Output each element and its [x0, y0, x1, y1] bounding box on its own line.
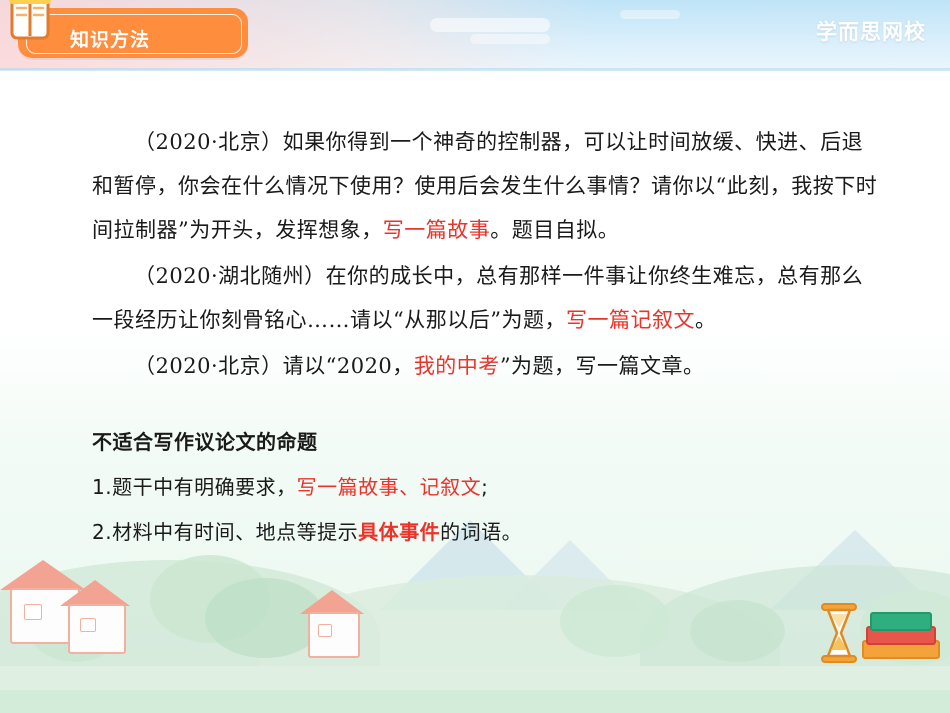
- paragraph-3: （2020·北京）请以“2020，我的中考”为题，写一篇文章。: [92, 344, 882, 388]
- paragraph-2-seg-2: 写一篇记叙文: [566, 308, 695, 332]
- stacked-books-icon: [870, 612, 932, 631]
- house-body: [308, 612, 360, 658]
- paragraph-2-seg-1: （2020·湖北随州）在你的成长中，总有那样一件事让你终生难忘，总有那么一段经历…: [92, 264, 863, 332]
- section-tab: 知识方法: [18, 8, 248, 58]
- sub-heading: 不适合写作议论文的命题: [92, 426, 882, 455]
- house-roof: [300, 590, 364, 614]
- section-tab-label: 知识方法: [70, 25, 150, 52]
- paragraph-2-seg-3: 。: [695, 308, 717, 332]
- bullet-2-seg-2: 具体事件: [358, 520, 440, 544]
- paragraph-3-seg-3: ”为题，写一篇文章。: [500, 354, 705, 378]
- house-window: [80, 618, 96, 632]
- house-body: [68, 604, 126, 654]
- paragraph-1-seg-3: 。题目自拟。: [490, 218, 619, 242]
- tree-icon: [560, 585, 670, 657]
- content-body: （2020·北京）如果你得到一个神奇的控制器，可以让时间放缓、快进、后退和暂停，…: [92, 120, 882, 545]
- paragraph-3-seg-2: 我的中考: [414, 354, 500, 378]
- bullet-item-2: 2.材料中有时间、地点等提示具体事件的词语。: [92, 516, 882, 545]
- cloud-icon: [470, 34, 550, 44]
- book-icon: [8, 0, 48, 38]
- cloud-icon: [430, 18, 550, 32]
- header-divider: [0, 68, 950, 71]
- house-window: [318, 624, 332, 637]
- bullet-2-seg-1: 2.材料中有时间、地点等提示: [92, 520, 358, 544]
- bullet-2-seg-3: 的词语。: [440, 520, 522, 544]
- bullet-1-seg-2: 写一篇故事、记叙文: [297, 475, 482, 499]
- paragraph-3-seg-1: （2020·北京）请以“2020，: [134, 354, 414, 378]
- house-window: [24, 604, 42, 620]
- ground-band-lower: [0, 690, 950, 713]
- house-roof: [60, 580, 130, 606]
- paragraph-1: （2020·北京）如果你得到一个神奇的控制器，可以让时间放缓、快进、后退和暂停，…: [92, 120, 882, 252]
- tree-icon: [690, 600, 785, 662]
- paragraph-1-seg-2: 写一篇故事: [383, 218, 491, 242]
- bullet-1-seg-3: ;: [481, 475, 488, 499]
- cloud-icon: [620, 10, 680, 19]
- bullet-item-1: 1.题干中有明确要求，写一篇故事、记叙文;: [92, 471, 882, 500]
- paragraph-2: （2020·湖北随州）在你的成长中，总有那样一件事让你终生难忘，总有那么一段经历…: [92, 254, 882, 342]
- corner-decoration: [818, 598, 938, 670]
- brand-logo: 学而思网校: [816, 16, 926, 46]
- bullet-1-seg-1: 1.题干中有明确要求，: [92, 475, 297, 499]
- slide-canvas: 知识方法 学而思网校 （2020·北京）如果你得到一个神奇的控制器，可以让时间放…: [0, 0, 950, 713]
- hourglass-icon: [818, 602, 858, 664]
